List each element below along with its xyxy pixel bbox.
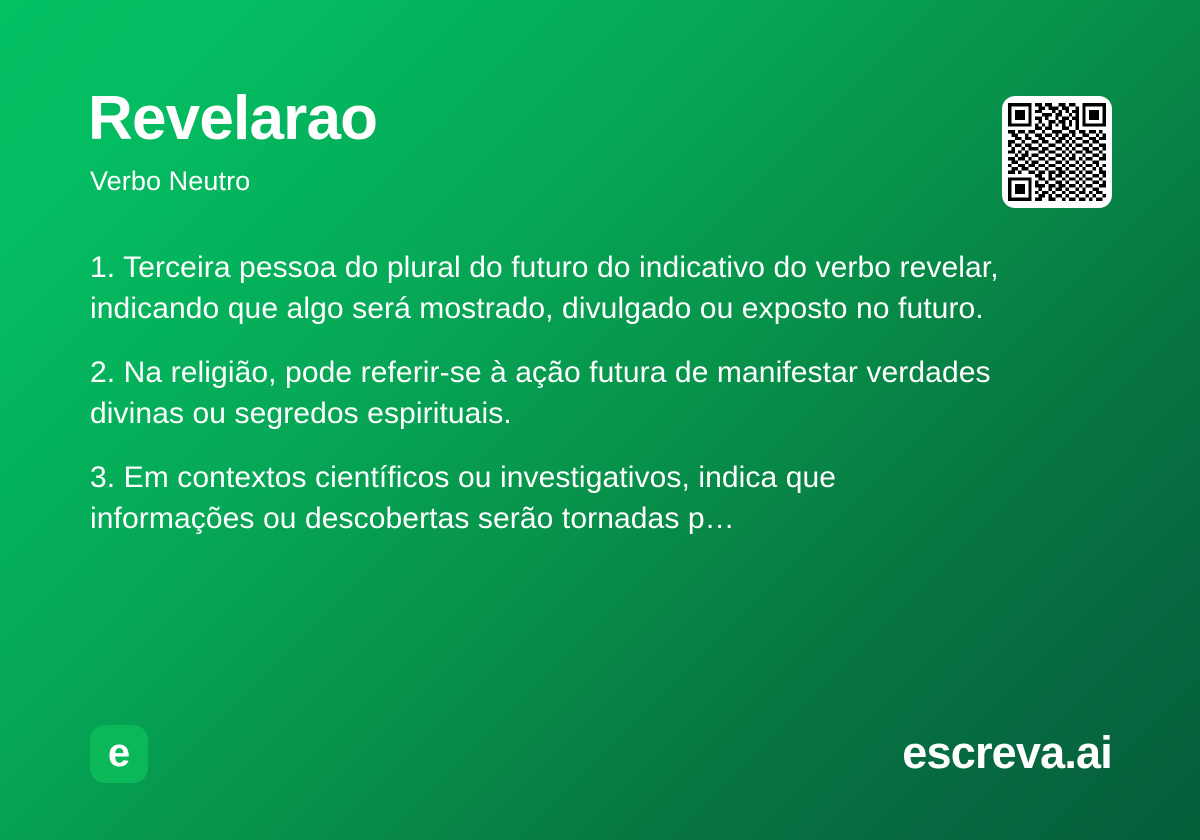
qr-code-matrix [1008, 103, 1106, 201]
word-class-subtitle: Verbo Neutro [90, 166, 250, 197]
brand-logo[interactable]: e [90, 725, 148, 783]
qr-code-icon[interactable] [1002, 96, 1112, 208]
definition-item-3: 3. Em contextos científicos ou investiga… [90, 457, 970, 539]
definition-item-1: 1. Terceira pessoa do plural do futuro d… [90, 247, 1110, 329]
definition-card: Revelarao Verbo Neutro 1. Terceira pesso… [0, 0, 1200, 840]
brand-logo-letter: e [108, 733, 130, 773]
brand-wordmark: escreva.ai [902, 724, 1112, 782]
definition-item-2: 2. Na religião, pode referir-se à ação f… [90, 352, 1020, 434]
page-title: Revelarao [88, 86, 377, 151]
definition-list: 1. Terceira pessoa do plural do futuro d… [90, 247, 1120, 539]
